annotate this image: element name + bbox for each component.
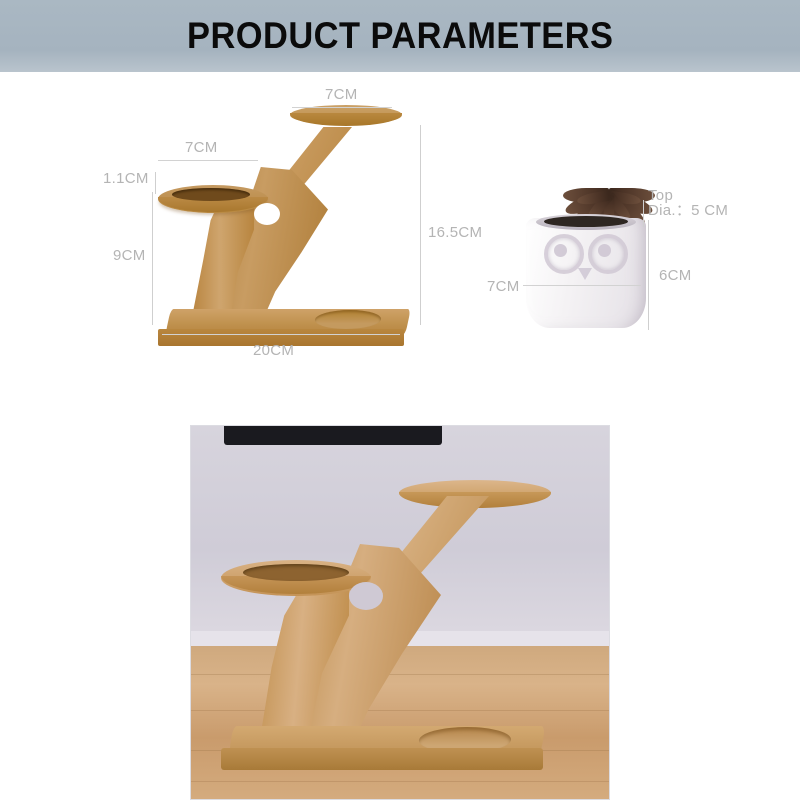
dim-label-pot-width: 7CM <box>487 278 520 295</box>
stand-upper-shelf-edge <box>290 113 402 126</box>
dim-line-lower-shelf-height <box>152 192 153 325</box>
dim-label-shelf-thickness: 1.1CM <box>103 170 149 187</box>
photo-stand-object <box>221 474 581 794</box>
photo-background-screen <box>224 426 441 445</box>
dim-label-lower-shelf-height: 9CM <box>113 247 146 264</box>
photo-notch-cut <box>349 582 383 610</box>
stand-lower-shelf-recess <box>172 188 250 201</box>
dim-label-pot-height: 6CM <box>659 267 692 284</box>
dim-label-base-length: 20CM <box>253 342 294 359</box>
owl-pot-soil <box>544 216 628 227</box>
dim-line-base-length <box>162 334 400 335</box>
owl-beak-icon <box>578 268 592 280</box>
dim-label-upper-shelf-width: 7CM <box>325 86 358 103</box>
stand-notch-cut <box>254 203 280 225</box>
dim-line-lower-shelf-width <box>158 160 258 161</box>
planter-diagram <box>520 162 660 347</box>
dim-label-top-diameter: Top Dia.：5 CM <box>648 188 728 218</box>
dim-line-shelf-thickness <box>155 172 156 194</box>
dim-line-pot-height <box>648 220 649 330</box>
dim-line-top-diameter <box>643 200 644 227</box>
dim-line-upper-shelf-width <box>292 107 392 108</box>
product-photo <box>190 425 610 800</box>
header-banner: PRODUCT PARAMETERS <box>0 0 800 72</box>
page-title: PRODUCT PARAMETERS <box>187 15 613 57</box>
dim-label-total-height: 16.5CM <box>428 224 482 241</box>
dim-label-top-diameter-line2: Dia.：5 CM <box>648 202 728 219</box>
dim-line-total-height <box>420 125 421 325</box>
photo-lower-shelf-recess <box>243 564 349 581</box>
dim-label-lower-shelf-width: 7CM <box>185 139 218 156</box>
owl-eye-right-icon <box>588 234 628 274</box>
diagram-section: 7CM 7CM 1.1CM 9CM 16.5CM 20CM <box>0 72 800 402</box>
dim-line-pot-width <box>523 285 641 286</box>
photo-base-front <box>221 748 543 770</box>
